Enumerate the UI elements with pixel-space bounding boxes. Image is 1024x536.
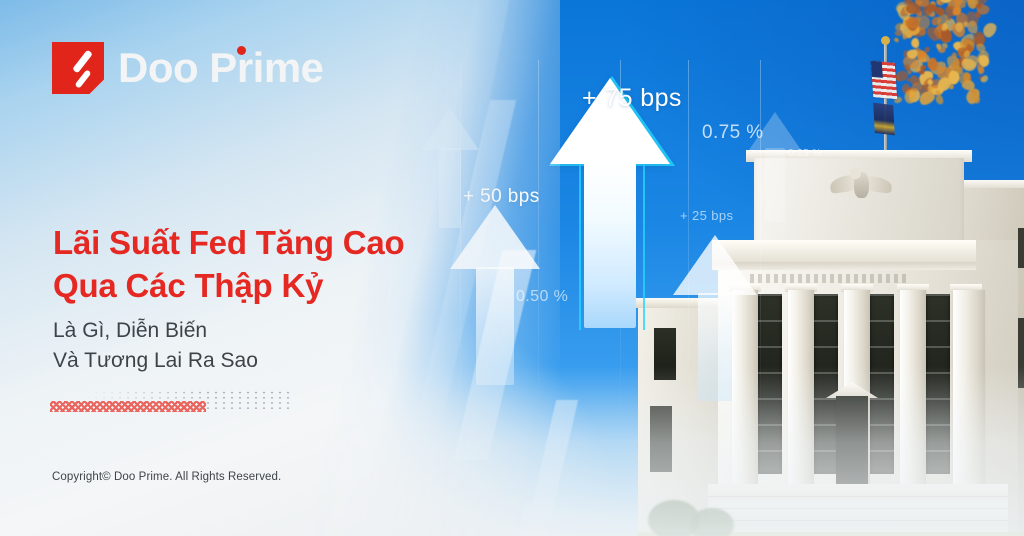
leaf <box>949 84 955 90</box>
leaf <box>935 94 945 105</box>
label-075-percent: 0.75 % <box>702 122 764 144</box>
brand-name: Doo Prime <box>118 47 324 89</box>
label-025-percent: 0.25 % <box>788 148 822 159</box>
subheadline-line-2: Và Tương Lai Ra Sao <box>53 346 523 376</box>
label-25-bps: + 25 bps <box>680 208 733 223</box>
brand-name-text: Doo Prime <box>118 44 324 91</box>
leaf <box>893 37 899 43</box>
leaf <box>979 67 985 74</box>
page-title: Lãi Suất Fed Tăng Cao Qua Các Thập Kỷ <box>53 222 523 308</box>
copyright-notice: Copyright© Doo Prime. All Rights Reserve… <box>52 471 281 483</box>
subheadline-line-1: Là Gì, Diễn Biến <box>53 316 523 346</box>
leaf <box>948 70 959 84</box>
doo-prime-logo-mark-icon <box>52 42 104 94</box>
leaf <box>910 37 919 48</box>
page-subtitle: Là Gì, Diễn Biến Và Tương Lai Ra Sao <box>53 316 523 377</box>
eagle-head <box>850 168 861 179</box>
headline-line-2: Qua Các Thập Kỷ <box>53 265 523 308</box>
decorative-accent <box>50 390 290 416</box>
flag-finial <box>881 36 890 45</box>
leaf <box>894 29 903 36</box>
leaf <box>920 63 928 70</box>
headline-line-1: Lãi Suất Fed Tăng Cao <box>53 222 523 265</box>
us-flag-icon <box>871 61 897 99</box>
logo-accent-dot-icon <box>237 46 246 55</box>
flag-canton <box>871 61 883 78</box>
building-window <box>1018 228 1024 268</box>
brand-logo[interactable]: Doo Prime <box>52 42 324 94</box>
promo-banner: + 75 bps + 50 bps + 25 bps 0.75 % 0.50 %… <box>0 0 1024 536</box>
hatched-accent-bar <box>50 401 206 412</box>
label-75-bps: + 75 bps <box>582 84 682 113</box>
